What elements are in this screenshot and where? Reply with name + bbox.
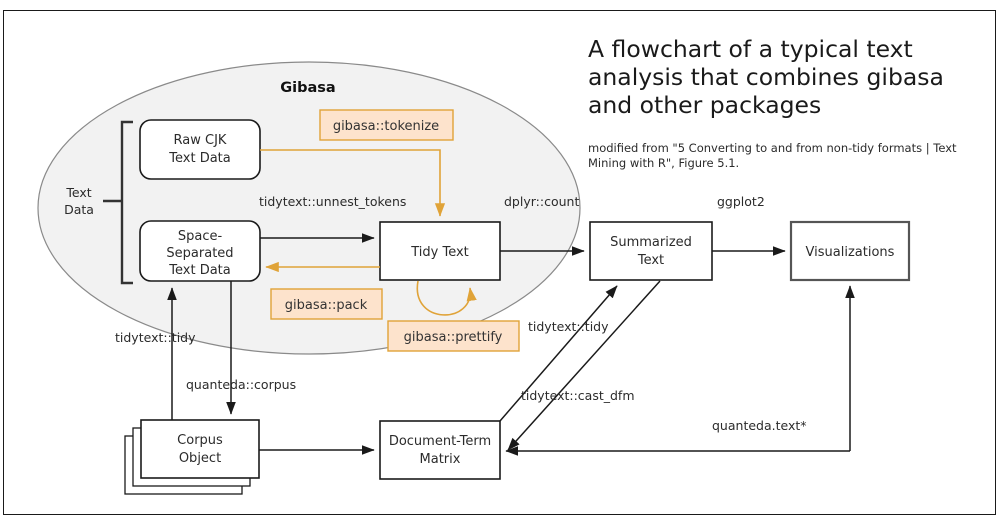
flowchart-canvas: Gibasa Text Data Raw CJK Text Data Space… — [0, 0, 1002, 521]
edge-label-cast-dfm: tidytext::cast_dfm — [521, 388, 635, 403]
node-summarized-line1: Summarized — [610, 235, 692, 250]
node-tidy-text-label: Tidy Text — [410, 245, 469, 260]
node-summarized-text[interactable] — [590, 222, 712, 280]
node-raw-cjk-line1: Raw CJK — [174, 133, 227, 148]
page-title-line2: analysis that combines gibasa — [588, 63, 944, 91]
edge-label-tidytext-tidy-left: tidytext::tidy — [115, 330, 196, 345]
page-subtitle-line2: Mining with R", Figure 5.1. — [588, 156, 739, 170]
node-document-term-matrix[interactable] — [380, 421, 500, 479]
node-corpus-line2: Object — [179, 451, 221, 466]
edge-label-quanteda-corpus: quanteda::corpus — [186, 377, 296, 392]
page-subtitle-line1: modified from "5 Converting to and from … — [588, 141, 957, 155]
edge-label-unnest-tokens: tidytext::unnest_tokens — [259, 194, 406, 209]
node-raw-cjk-text-data[interactable] — [140, 120, 260, 179]
node-dtm-line1: Document-Term — [389, 434, 491, 449]
gibasa-group-label: Gibasa — [280, 80, 335, 96]
annotation-gibasa-tokenize-label: gibasa::tokenize — [333, 119, 439, 134]
flowchart-svg: Gibasa Text Data Raw CJK Text Data Space… — [0, 0, 1002, 521]
text-data-label-line2: Data — [64, 202, 94, 217]
page-title-line3: and other packages — [588, 91, 821, 119]
node-dtm-line2: Matrix — [420, 452, 461, 467]
annotation-gibasa-pack-label: gibasa::pack — [285, 298, 368, 313]
edge-label-dplyr-count: dplyr::count — [504, 194, 579, 209]
node-summarized-line2: Text — [637, 253, 664, 268]
page-title-line1: A flowchart of a typical text — [588, 35, 913, 63]
node-space-sep-line3: Text Data — [168, 263, 230, 278]
node-visualizations-label: Visualizations — [806, 245, 895, 260]
node-corpus-object[interactable] — [141, 420, 259, 478]
node-raw-cjk-line2: Text Data — [168, 151, 230, 166]
edge-label-ggplot2: ggplot2 — [717, 194, 765, 209]
text-data-label-line1: Text — [65, 185, 91, 200]
node-corpus-line1: Corpus — [177, 433, 223, 448]
edge-label-quanteda-text: quanteda.text* — [712, 418, 807, 433]
node-space-sep-line1: Space- — [178, 229, 223, 244]
annotation-gibasa-prettify-label: gibasa::prettify — [404, 330, 503, 345]
edge-summarized-to-dtm — [508, 281, 660, 450]
edge-label-tidytext-tidy-right: tidytext::tidy — [528, 319, 609, 334]
node-space-sep-line2: Separated — [166, 246, 233, 261]
